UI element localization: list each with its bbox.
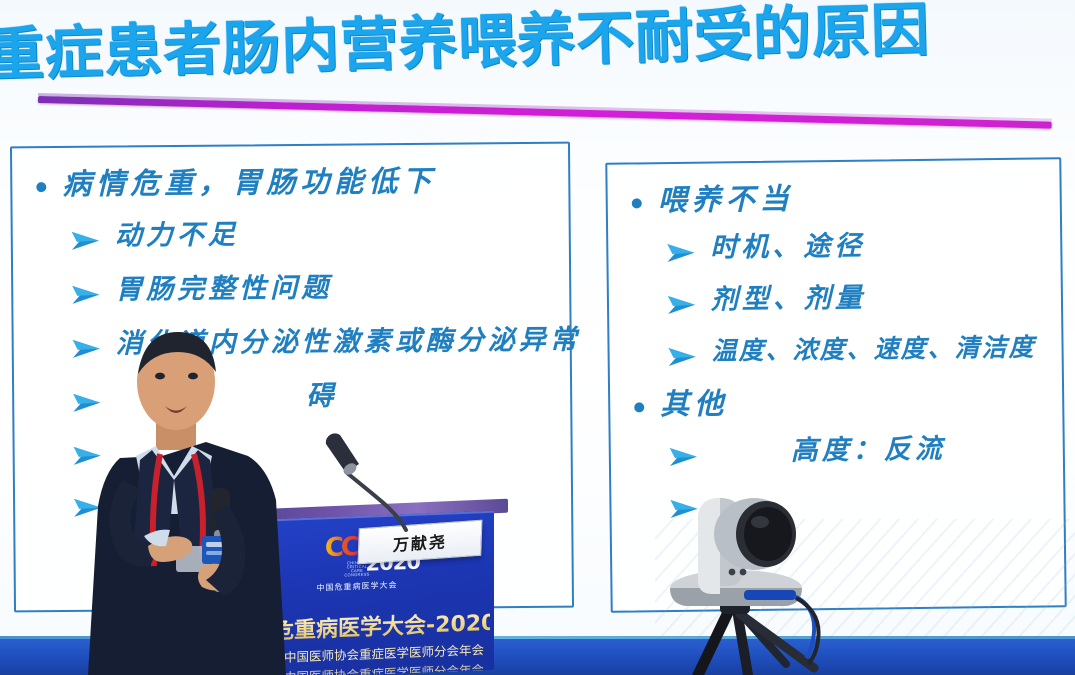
arrow-bullet-icon <box>666 242 696 264</box>
list-item: 高度：反流 <box>669 431 1053 469</box>
conference-photo: 重症患者肠内营养喂养不耐受的原因 病情危重，胃肠功能低下 动力不足 <box>0 0 1075 675</box>
bullet-text: 剂型、剂量 <box>711 282 866 318</box>
list-item: 病情危重，胃肠功能低下 <box>36 162 558 203</box>
arrow-bullet-icon <box>667 294 697 316</box>
arrow-bullet-icon <box>71 284 101 306</box>
slide-title: 重症患者肠内营养喂养不耐受的原因 <box>0 0 997 92</box>
bullet-text: 胃肠完整性问题 <box>115 272 332 308</box>
dot-bullet-icon <box>632 198 642 208</box>
list-item: 胃肠完整性问题 <box>71 270 559 308</box>
bullet-text: 高度：反流 <box>791 433 946 469</box>
title-underline-rule <box>38 96 1052 129</box>
list-item: 其他 <box>634 381 1052 422</box>
arrow-bullet-icon <box>669 446 699 468</box>
bullet-text: 时机、途径 <box>710 230 865 266</box>
bullet-text: 动力不足 <box>115 219 239 254</box>
bullet-text: 喂养不当 <box>658 181 794 219</box>
arrow-bullet-icon <box>71 230 101 252</box>
list-item: 时机、途径 <box>666 228 1050 266</box>
dot-bullet-icon <box>634 402 644 412</box>
bullet-text: 其他 <box>660 385 728 422</box>
list-item: 剂型、剂量 <box>667 279 1051 317</box>
bullet-text: 温度、浓度、速度、清洁度 <box>711 331 1035 366</box>
bullet-text: 病情危重，胃肠功能低下 <box>62 163 436 203</box>
placard-name: 万献尧 <box>393 528 448 556</box>
dot-bullet-icon <box>36 182 46 192</box>
list-item: 喂养不当 <box>632 177 1050 218</box>
list-item: 动力不足 <box>71 216 559 254</box>
arrow-bullet-icon <box>668 345 698 367</box>
speaker-person <box>60 330 320 675</box>
ptz-camera <box>636 486 836 675</box>
list-item: 温度、浓度、速度、清洁度 <box>667 331 1051 368</box>
